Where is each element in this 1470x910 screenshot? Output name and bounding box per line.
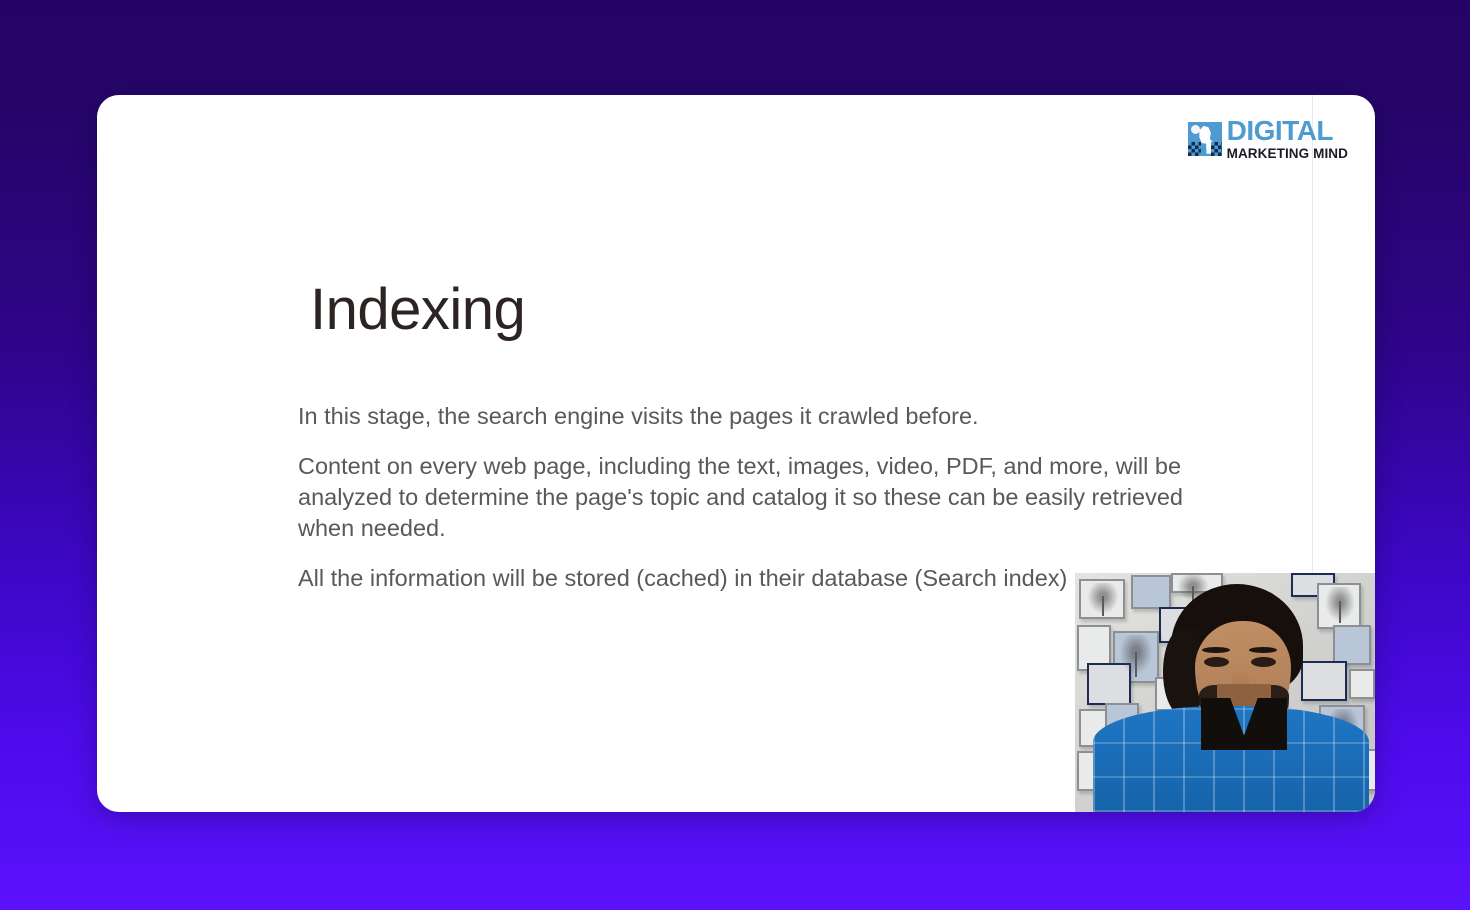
logo-checker-bottom-left: [1188, 142, 1201, 156]
slide-body: In this stage, the search engine visits …: [298, 401, 1188, 594]
logo-subtitle: MARKETING MIND: [1227, 147, 1348, 161]
webcam-presenter: [1075, 573, 1375, 812]
logo-title: DIGITAL: [1227, 117, 1348, 145]
slide-card: DIGITAL MARKETING MIND Indexing In this …: [97, 95, 1375, 812]
presenter-eye-right: [1251, 657, 1276, 667]
presenter-eyebrow-right: [1249, 647, 1277, 653]
slide-paragraph-3: All the information will be stored (cach…: [298, 563, 1188, 594]
slide-title: Indexing: [310, 276, 525, 343]
logo-checker-bottom-right: [1211, 142, 1222, 156]
presenter-webcam-feed[interactable]: [1075, 573, 1375, 812]
slide-paragraph-1: In this stage, the search engine visits …: [298, 401, 1188, 432]
logo-text: DIGITAL MARKETING MIND: [1227, 117, 1348, 161]
slide-paragraph-2: Content on every web page, including the…: [298, 451, 1188, 544]
digital-marketing-mind-logo-icon: [1188, 122, 1222, 156]
presenter-eye-left: [1204, 657, 1229, 667]
presenter-eyebrow-left: [1202, 647, 1230, 653]
logo-bulb-shape: [1191, 125, 1200, 134]
brand-logo: DIGITAL MARKETING MIND: [1188, 117, 1348, 161]
